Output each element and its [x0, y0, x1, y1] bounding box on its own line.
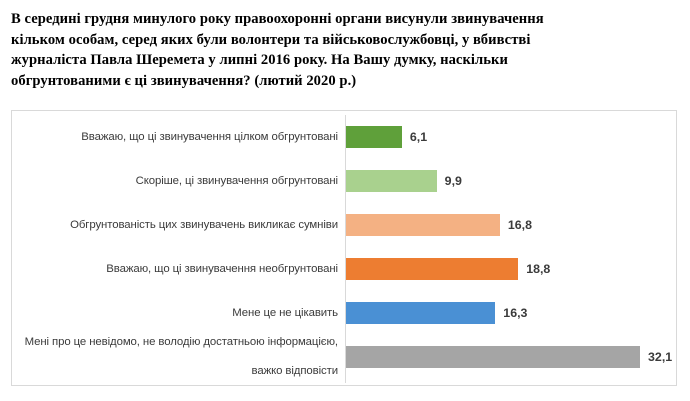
bar-row: Мене це не цікавить 16,3	[12, 291, 676, 335]
bar-value-label: 18,8	[526, 258, 550, 280]
bar-row: Мені про це невідомо, не володію достатн…	[12, 335, 676, 379]
category-label: Обгрунтованість цих звинувачень викликає…	[16, 203, 338, 247]
chart-page: В середині грудня минулого року правоохо…	[0, 0, 690, 401]
bar-row: Обгрунтованість цих звинувачень викликає…	[12, 203, 676, 247]
question-line-1: В середині грудня минулого року правоохо…	[11, 9, 677, 30]
bar-value-label: 6,1	[410, 126, 427, 148]
chart-frame: Вважаю, що ці звинувачення цілком обгрун…	[11, 110, 677, 386]
question-title: В середині грудня минулого року правоохо…	[11, 9, 677, 91]
bar-segment[interactable]	[346, 170, 437, 192]
bar-track: 32,1	[346, 335, 676, 379]
bar-track: 16,3	[346, 291, 676, 335]
bar-value-label: 32,1	[648, 346, 672, 368]
bar-segment[interactable]	[346, 258, 518, 280]
bar-track: 9,9	[346, 159, 676, 203]
category-label: Скоріше, ці звинувачення обгрунтовані	[16, 159, 338, 203]
category-label: Вважаю, що ці звинувачення цілком обгрун…	[16, 115, 338, 159]
bar-value-label: 16,8	[508, 214, 532, 236]
bar-row: Вважаю, що ці звинувачення цілком обгрун…	[12, 115, 676, 159]
category-label: Мене це не цікавить	[16, 291, 338, 335]
bar-value-label: 16,3	[503, 302, 527, 324]
bar-track: 6,1	[346, 115, 676, 159]
category-label-line1: Мене це не цікавить	[16, 306, 338, 321]
category-label: Мені про це невідомо, не володію достатн…	[16, 335, 338, 379]
bar-segment[interactable]	[346, 126, 402, 148]
bar-segment[interactable]	[346, 214, 500, 236]
question-line-4: обгрунтованими є ці звинувачення? (лютий…	[11, 71, 677, 92]
plot-area: Вважаю, що ці звинувачення цілком обгрун…	[12, 111, 676, 385]
category-label-line1: Вважаю, що ці звинувачення необгрунтован…	[16, 262, 338, 277]
bar-row: Скоріше, ці звинувачення обгрунтовані 9,…	[12, 159, 676, 203]
bar-track: 16,8	[346, 203, 676, 247]
bar-segment[interactable]	[346, 302, 495, 324]
category-label-line1: Скоріше, ці звинувачення обгрунтовані	[16, 174, 338, 189]
category-label-line1: Обгрунтованість цих звинувачень викликає…	[16, 218, 338, 233]
bar-track: 18,8	[346, 247, 676, 291]
category-label-line1: Вважаю, що ці звинувачення цілком обгрун…	[16, 130, 338, 145]
question-line-3: журналіста Павла Шеремета у липні 2016 р…	[11, 50, 677, 71]
category-label: Вважаю, що ці звинувачення необгрунтован…	[16, 247, 338, 291]
category-label-line1: Мені про це невідомо, не володію достатн…	[16, 335, 338, 350]
bar-segment[interactable]	[346, 346, 640, 368]
question-line-2: кільком особам, серед яких були волонтер…	[11, 30, 677, 51]
bar-row: Вважаю, що ці звинувачення необгрунтован…	[12, 247, 676, 291]
bar-value-label: 9,9	[445, 170, 462, 192]
category-label-line2: важко відповісти	[16, 364, 338, 379]
